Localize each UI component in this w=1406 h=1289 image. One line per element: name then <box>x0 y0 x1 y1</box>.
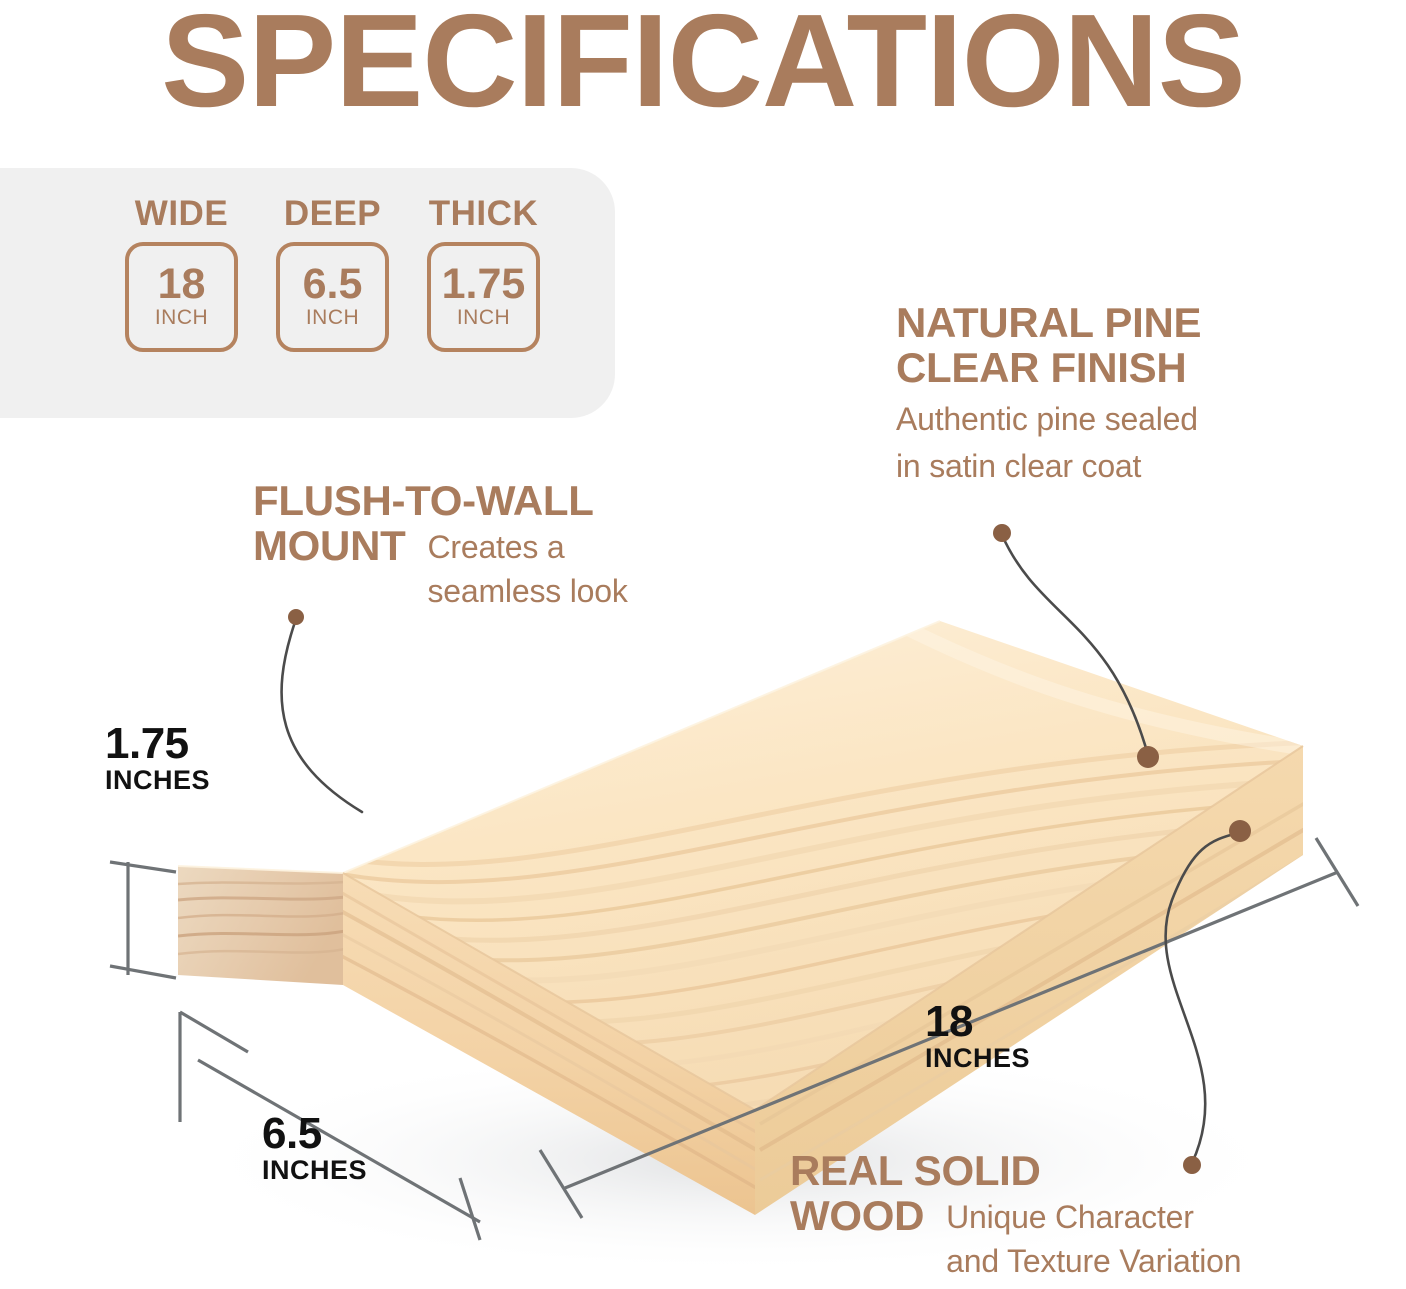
spec-unit-wide: INCH <box>155 306 208 330</box>
callout-flush-to-wall-sub-line2: seamless look <box>427 573 627 611</box>
spec-item-deep: DEEP 6.5 INCH <box>276 194 389 352</box>
dot-natural-pine-end <box>1137 746 1159 768</box>
spec-caption-thick: THICK <box>429 194 538 234</box>
callout-natural-pine-sub-line2: in satin clear coat <box>896 448 1326 486</box>
dimtick-width-right <box>1316 838 1358 906</box>
end-grain-rings <box>178 882 345 954</box>
callout-real-solid-wood-sub-line1: Unique Character <box>946 1199 1241 1237</box>
callout-real-solid-wood-row: WOOD Unique Character and Texture Variat… <box>790 1193 1390 1281</box>
leader-natural-pine <box>1002 535 1148 755</box>
dimtick-width-left <box>540 1150 582 1218</box>
top-face-wood-grain <box>330 625 1320 1112</box>
dimension-unit-thickness: INCHES <box>105 765 210 796</box>
spec-row: WIDE 18 INCH DEEP 6.5 INCH THICK 1.75 IN… <box>125 194 540 352</box>
spec-box-deep: 6.5 INCH <box>276 242 389 352</box>
spec-unit-thick: INCH <box>457 306 510 330</box>
callout-real-solid-wood-heading-line1: REAL SOLID <box>790 1148 1390 1193</box>
board-front-edge-face <box>343 873 755 1215</box>
spec-value-thick: 1.75 <box>442 264 526 305</box>
spec-value-deep: 6.5 <box>303 264 363 305</box>
board-end-grain-face <box>178 866 343 985</box>
dimension-value-width: 18 <box>925 1000 1030 1043</box>
board-top-face <box>343 621 1303 1110</box>
spec-value-wide: 18 <box>158 264 206 305</box>
callout-flush-to-wall-sub-line1: Creates a <box>427 529 627 567</box>
dimtick-depth-bottom <box>460 1178 480 1240</box>
spec-box-thick: 1.75 INCH <box>427 242 540 352</box>
callout-real-solid-wood: REAL SOLID WOOD Unique Character and Tex… <box>790 1148 1390 1281</box>
spec-item-thick: THICK 1.75 INCH <box>427 194 540 352</box>
spec-caption-deep: DEEP <box>284 194 381 234</box>
callout-leaders <box>282 535 1238 1163</box>
page-title: SPECIFICATIONS <box>0 0 1406 131</box>
dot-flush-to-wall <box>288 609 304 625</box>
callout-flush-to-wall: FLUSH-TO-WALL MOUNT Creates a seamless l… <box>253 478 793 611</box>
callout-flush-to-wall-heading-line2: MOUNT <box>253 523 405 568</box>
dimension-unit-width: INCHES <box>925 1043 1030 1074</box>
dimtick-thickness-top <box>110 862 176 872</box>
front-edge-grain <box>330 886 770 1196</box>
dimension-label-width: 18 INCHES <box>925 1000 1030 1074</box>
spec-caption-wide: WIDE <box>135 194 228 234</box>
callout-flush-to-wall-row: MOUNT Creates a seamless look <box>253 523 793 611</box>
dimtick-depth-top <box>180 1012 248 1052</box>
callout-natural-pine-heading-line2: CLEAR FINISH <box>896 345 1326 390</box>
callout-real-solid-wood-sub-line2: and Texture Variation <box>946 1243 1241 1281</box>
callout-real-solid-wood-sub: Unique Character and Texture Variation <box>946 1193 1241 1281</box>
callout-natural-pine-heading-line1: NATURAL PINE <box>896 300 1326 345</box>
spec-unit-deep: INCH <box>306 306 359 330</box>
dimension-label-depth: 6.5 INCHES <box>262 1112 367 1186</box>
callout-natural-pine-sub-line1: Authentic pine sealed <box>896 401 1326 439</box>
callout-flush-to-wall-sub: Creates a seamless look <box>427 523 627 611</box>
dimension-unit-depth: INCHES <box>262 1155 367 1186</box>
dimension-label-thickness: 1.75 INCHES <box>105 722 210 796</box>
right-end-grain <box>760 800 1310 1180</box>
callout-dots <box>288 524 1251 1174</box>
leader-flush-to-wall <box>282 619 362 812</box>
dot-natural-pine-top <box>993 524 1011 542</box>
board-edge-highlight <box>178 621 940 873</box>
dimension-value-thickness: 1.75 <box>105 722 210 765</box>
callout-flush-to-wall-heading-line1: FLUSH-TO-WALL <box>253 478 793 523</box>
leader-real-solid-wood <box>1166 833 1238 1163</box>
spec-item-wide: WIDE 18 INCH <box>125 194 238 352</box>
board-edge-line <box>343 746 1303 1110</box>
spec-box-wide: 18 INCH <box>125 242 238 352</box>
dimtick-thickness-bottom <box>110 966 176 978</box>
dimension-value-depth: 6.5 <box>262 1112 367 1155</box>
board-right-end-face <box>755 746 1303 1215</box>
dot-real-solid-wood-end <box>1229 820 1251 842</box>
callout-natural-pine: NATURAL PINE CLEAR FINISH Authentic pine… <box>896 300 1326 486</box>
callout-real-solid-wood-heading-line2: WOOD <box>790 1193 924 1238</box>
spec-summary-card: WIDE 18 INCH DEEP 6.5 INCH THICK 1.75 IN… <box>0 168 615 418</box>
